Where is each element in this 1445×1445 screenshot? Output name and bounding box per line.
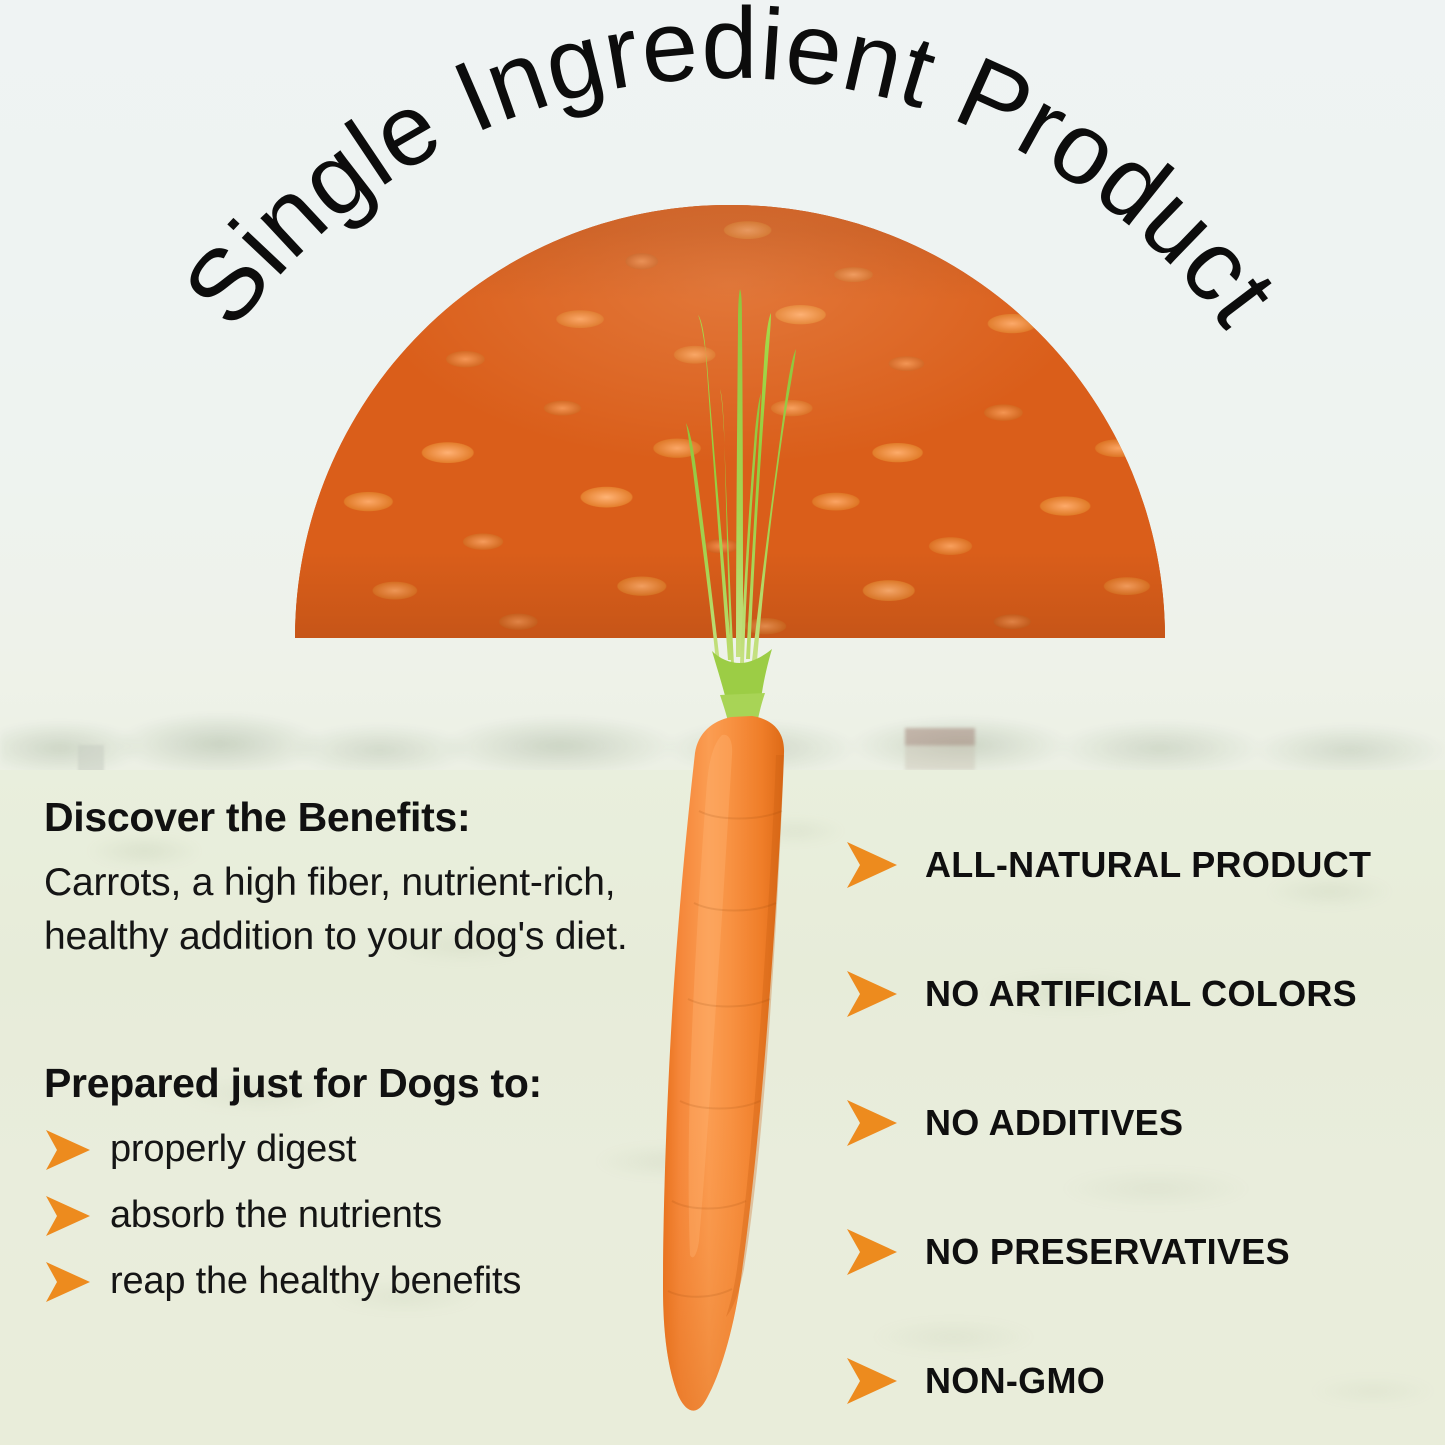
carrot-greens [686,289,796,731]
infographic-canvas: Single Ingredient Product [0,0,1445,1445]
prepared-item-label: absorb the nutrients [110,1194,442,1237]
list-item: properly digest [44,1117,664,1183]
left-text-column: Discover the Benefits: Carrots, a high f… [44,795,664,1315]
list-item: absorb the nutrients [44,1183,664,1249]
arrow-bullet-icon [845,840,899,890]
arrow-bullet-icon [845,1227,899,1277]
list-item: ALL-NATURAL PRODUCT [845,800,1445,929]
prepared-heading: Prepared just for Dogs to: [44,1060,664,1107]
list-item: reap the healthy benefits [44,1249,664,1315]
prepared-item-label: properly digest [110,1128,356,1171]
benefits-body: Carrots, a high fiber, nutrient-rich, he… [44,856,664,964]
list-item: NO PRESERVATIVES [845,1187,1445,1316]
benefits-heading: Discover the Benefits: [44,795,664,840]
feature-label: NO PRESERVATIVES [925,1231,1290,1273]
arrow-bullet-icon [845,969,899,1019]
arrow-bullet-icon [44,1260,92,1304]
arrow-bullet-icon [44,1194,92,1238]
list-item: NON-GMO [845,1316,1445,1445]
feature-label: NO ARTIFICIAL COLORS [925,973,1357,1015]
list-item: NO ARTIFICIAL COLORS [845,929,1445,1058]
arrow-bullet-icon [845,1098,899,1148]
prepared-item-label: reap the healthy benefits [110,1260,521,1303]
farm-house-background [905,728,975,770]
feature-label: NO ADDITIVES [925,1102,1183,1144]
carrot-root [663,716,784,1411]
feature-label: NON-GMO [925,1360,1105,1402]
prepared-list: properly digest absorb the nutrients rea… [44,1117,664,1315]
list-item: NO ADDITIVES [845,1058,1445,1187]
feature-list: ALL-NATURAL PRODUCT NO ARTIFICIAL COLORS… [845,800,1445,1445]
feature-label: ALL-NATURAL PRODUCT [925,844,1371,886]
arrow-bullet-icon [845,1356,899,1406]
arrow-bullet-icon [44,1128,92,1172]
